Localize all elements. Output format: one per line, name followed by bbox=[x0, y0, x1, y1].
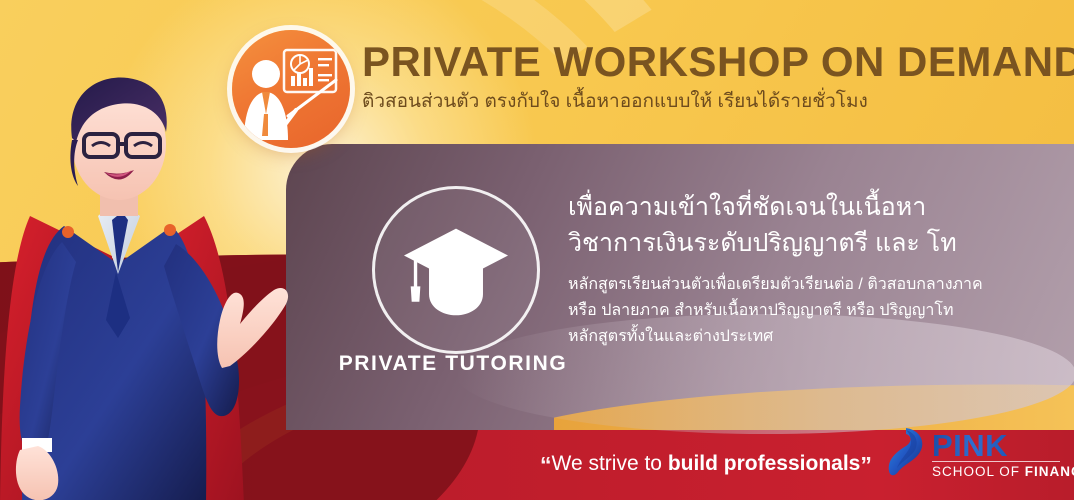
page-title: PRIVATE WORKSHOP ON DEMAND bbox=[362, 40, 1062, 84]
page-subtitle: ติวสอนส่วนตัว ตรงกับใจ เนื้อหาออกแบบให้ … bbox=[362, 90, 1062, 115]
graduation-cap-icon bbox=[398, 217, 514, 323]
panel-gold-wave bbox=[554, 360, 1074, 430]
logo-tagline-light: SCHOOL OF bbox=[932, 464, 1025, 479]
logo-name: PINK bbox=[932, 428, 1008, 464]
body-copy: หลักสูตรเรียนส่วนตัวเพื่อเตรียมตัวเรียนต… bbox=[568, 272, 1038, 350]
body-copy-line-1: หลักสูตรเรียนส่วนตัวเพื่อเตรียมตัวเรียนต… bbox=[568, 272, 1038, 298]
body-heading: เพื่อความเข้าใจที่ชัดเจนในเนื้อหา วิชากา… bbox=[568, 190, 1038, 261]
body-copy-line-2: หรือ ปลายภาค สำหรับเนื้อหาปริญญาตรี หรือ… bbox=[568, 298, 1038, 324]
body-heading-line-1: เพื่อความเข้าใจที่ชัดเจนในเนื้อหา bbox=[568, 190, 1038, 226]
tagline: “We strive to build professionals” bbox=[540, 452, 872, 479]
tagline-text-bold: build professionals bbox=[668, 452, 861, 475]
presenter-icon bbox=[232, 30, 350, 148]
body-heading-line-2: วิชาการเงินระดับปริญญาตรี และ โท bbox=[568, 226, 1038, 262]
tagline-close-quote: ” bbox=[860, 452, 872, 478]
tutoring-badge-label: PRIVATE TUTORING bbox=[318, 352, 588, 376]
body-copy-line-3: หลักสูตรทั้งในและต่างประเทศ bbox=[568, 324, 1038, 350]
logo-tagline: SCHOOL OF FINANCE bbox=[932, 464, 1074, 479]
logo-tagline-bold: FINANCE bbox=[1025, 464, 1074, 479]
logo-divider bbox=[932, 461, 1060, 462]
presenter-whiteboard-icon bbox=[232, 30, 350, 148]
tagline-text: We strive to bbox=[552, 452, 668, 475]
logo[interactable]: PINK SCHOOL OF FINANCE bbox=[884, 428, 1060, 486]
blue-swoosh-icon bbox=[884, 426, 930, 478]
tagline-open-quote: “ bbox=[540, 452, 552, 478]
promotional-banner: PRIVATE WORKSHOP ON DEMAND ติวสอนส่วนตัว… bbox=[0, 0, 1074, 500]
tutoring-badge bbox=[372, 186, 540, 354]
